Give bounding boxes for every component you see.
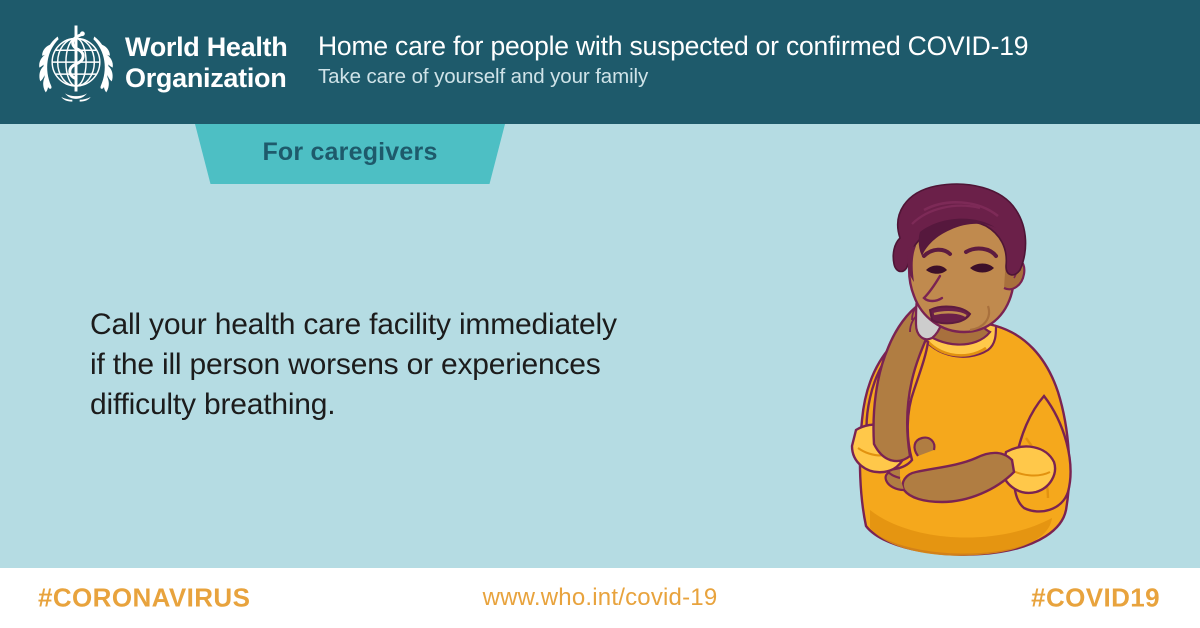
footer-hashtag-coronavirus: #CORONAVIRUS <box>38 583 250 614</box>
poster-footer: #CORONAVIRUS www.who.int/covid-19 #COVID… <box>0 568 1200 628</box>
who-wordmark-line1: World Health <box>125 32 287 63</box>
who-emblem-icon <box>30 20 122 108</box>
footer-url[interactable]: www.who.int/covid-19 <box>483 584 718 612</box>
footer-hashtag-covid19: #COVID19 <box>1031 583 1160 614</box>
audience-banner: For caregivers <box>195 124 505 184</box>
page-subtitle: Take care of yourself and your family <box>318 63 1178 91</box>
header-text-block: Home care for people with suspected or c… <box>318 30 1178 91</box>
advice-message: Call your health care facility immediate… <box>90 305 750 425</box>
person-calling-health-facility-illustration <box>800 180 1100 565</box>
advice-message-line2: if the ill person worsens or experiences <box>90 345 750 385</box>
poster-header: World Health Organization Home care for … <box>0 0 1200 124</box>
page-title: Home care for people with suspected or c… <box>318 30 1178 63</box>
banner-label: For caregivers <box>195 124 505 184</box>
advice-message-line1: Call your health care facility immediate… <box>90 305 750 345</box>
who-wordmark-line2: Organization <box>125 63 287 94</box>
who-wordmark: World Health Organization <box>125 32 287 94</box>
advice-message-line3: difficulty breathing. <box>90 385 750 425</box>
who-covid-poster: World Health Organization Home care for … <box>0 0 1200 628</box>
